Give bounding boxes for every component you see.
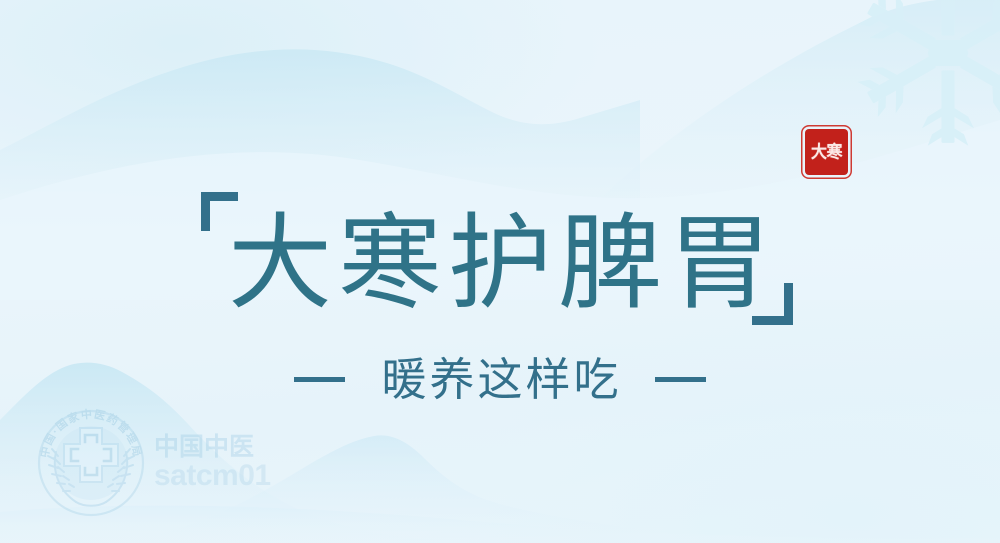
poster-canvas: 大寒护脾胃 暖养这样吃 大寒 中国·国家中医药管理局 [0, 0, 1000, 543]
watermark: 中国·国家中医药管理局 中国中医 satcm01 [32, 404, 282, 526]
satcm-emblem-icon: 中国·国家中医药管理局 [32, 404, 150, 522]
page-subtitle: 暖养这样吃 [378, 355, 621, 405]
watermark-labels: 中国中医 satcm01 [154, 434, 284, 491]
page-title: 大寒护脾胃 [0, 205, 1000, 321]
seal-label: 大寒 [811, 143, 842, 160]
watermark-brand-cn: 中国中医 [154, 434, 284, 460]
status-badge: 大寒 [805, 129, 848, 175]
watermark-brand-id: satcm01 [154, 461, 284, 491]
subtitle-rule-right [655, 377, 706, 382]
subtitle-row: 暖养这样吃 [0, 355, 1000, 405]
subtitle-rule-left [294, 377, 345, 382]
